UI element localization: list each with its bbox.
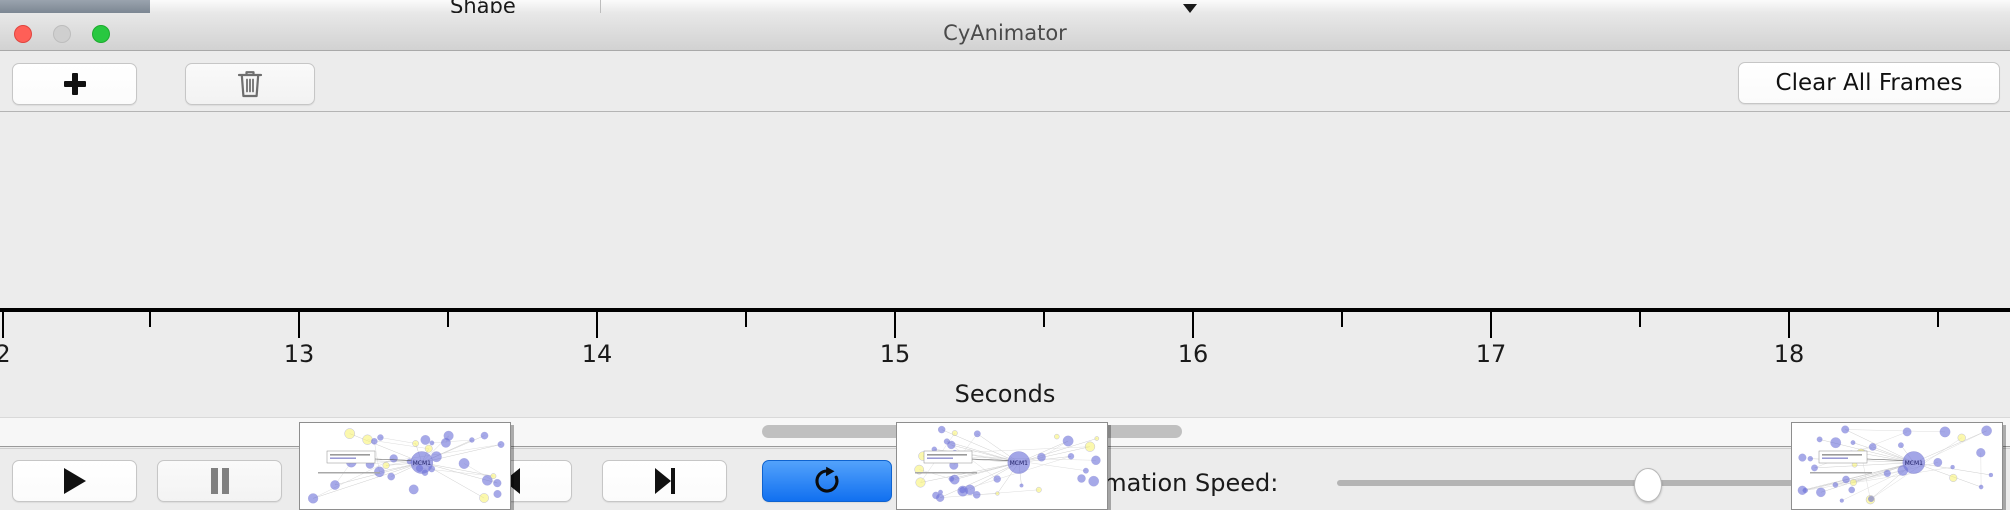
animation-speed-slider-thumb[interactable] [1634,468,1662,502]
axis-tick-label: 16 [1178,340,1209,368]
cyanimator-window: Shape CyAnimator Clear All Frames Second… [0,0,2010,510]
loop-icon [812,466,842,496]
svg-text:MCM1: MCM1 [1905,460,1924,467]
skip-next-icon [652,468,678,494]
timeline-frame-thumbnail[interactable]: MCM1 [299,422,511,510]
axis-tick-label: 2 [0,340,11,368]
timeline-frame-thumbnail[interactable]: MCM1 [896,422,1108,510]
play-button[interactable] [12,460,137,502]
background-fragment-label: Shape [450,0,516,13]
axis-tick-label: 17 [1476,340,1507,368]
axis-minor-tick [447,312,449,327]
axis-major-tick [1788,312,1790,338]
svg-text:MCM1: MCM1 [413,460,432,467]
axis-minor-tick [1043,312,1045,327]
toolbar: Clear All Frames [0,51,2010,112]
bg-chunk [1605,0,2010,13]
bg-chunk [545,0,626,13]
axis-minor-tick [745,312,747,327]
axis-tick-label: 14 [582,340,613,368]
bg-chunk [755,0,1176,13]
trash-icon [237,69,263,99]
svg-text:MCM1: MCM1 [1010,460,1029,467]
skip-end-button[interactable] [602,460,727,502]
delete-frame-button[interactable] [185,63,315,105]
axis-major-tick [2,312,4,338]
axis-major-tick [1490,312,1492,338]
bg-chunk [625,0,756,13]
axis-major-tick [596,312,598,338]
plus-icon [63,72,87,96]
background-window-strip: Shape [0,0,2010,13]
axis-minor-tick [149,312,151,327]
pause-button[interactable] [157,460,282,502]
add-frame-button[interactable] [12,63,137,105]
axis-title: Seconds [0,380,2010,408]
axis-major-tick [298,312,300,338]
pause-icon [209,468,231,494]
play-icon [64,468,86,494]
loop-button[interactable] [762,460,892,502]
axis-tick-label: 18 [1774,340,1805,368]
axis-major-tick [894,312,896,338]
axis-minor-tick [1937,312,1939,327]
bg-chunk [365,0,456,13]
bg-chunk [150,0,366,13]
bg-caret-icon [1183,4,1197,13]
timeline-axis [0,308,2010,312]
bg-chunk [1175,0,1606,13]
bg-chunk-dark [0,0,151,13]
axis-major-tick [1192,312,1194,338]
frame-track[interactable] [0,112,2010,312]
axis-tick-label: 15 [880,340,911,368]
bg-tab-divider [600,0,601,13]
clear-all-frames-button[interactable]: Clear All Frames [1738,62,2000,104]
window-title: CyAnimator [0,21,2010,45]
axis-minor-tick [1639,312,1641,327]
axis-minor-tick [1341,312,1343,327]
timeline-frame-thumbnail[interactable]: MCM1 [1791,422,2003,510]
axis-tick-label: 13 [284,340,315,368]
window-titlebar: CyAnimator [0,13,2010,51]
